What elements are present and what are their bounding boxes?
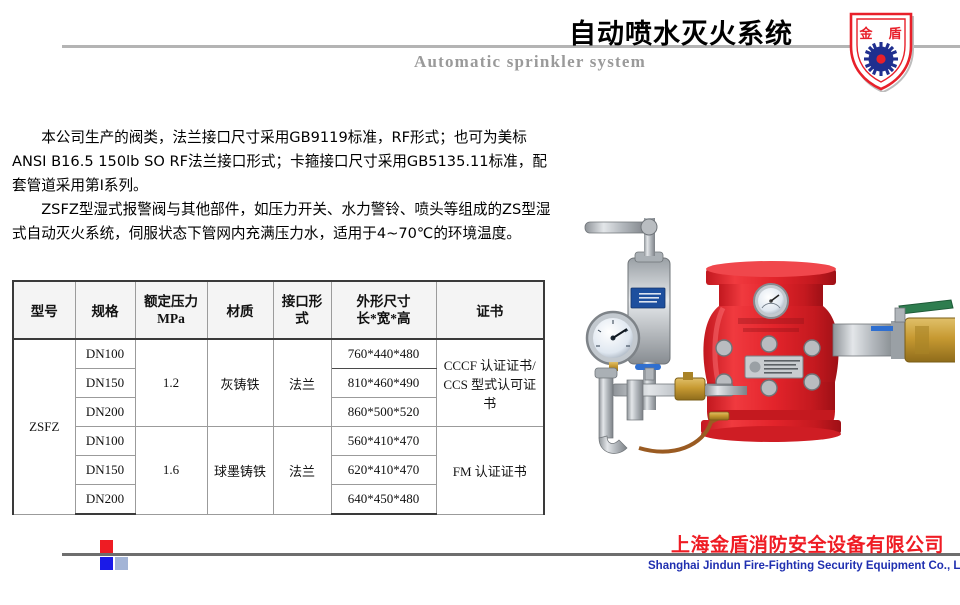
cell-certificate-line2: CCS 型式认可证书 xyxy=(438,374,543,412)
cell-spec: DN200 xyxy=(75,398,135,427)
specification-table: 型号 规格 额定压力 MPa 材质 接口形 式 外形尺寸 长*宽*高 证书 xyxy=(12,280,545,515)
cell-connection: 法兰 xyxy=(273,427,331,515)
valve-nameplate xyxy=(745,356,803,378)
cell-certificate-line1: CCCF 认证证书/ xyxy=(438,355,543,374)
logo-char-jin: 金 xyxy=(858,26,873,42)
col-header-certificate: 证书 xyxy=(436,281,544,339)
footer-accent-square-blue xyxy=(100,557,113,570)
cell-spec: DN200 xyxy=(75,485,135,515)
cell-dimensions: 760*440*480 xyxy=(331,339,436,369)
cell-material: 球墨铸铁 xyxy=(207,427,273,515)
cell-dimensions: 560*410*470 xyxy=(331,427,436,456)
cell-spec: DN100 xyxy=(75,427,135,456)
cell-dimensions: 810*460*490 xyxy=(331,369,436,398)
col-header-dimensions: 外形尺寸 长*宽*高 xyxy=(331,281,436,339)
company-name-english: Shanghai Jindun Fire-Fighting Security E… xyxy=(648,560,960,572)
company-name-chinese: 上海金盾消防安全设备有限公司 xyxy=(655,530,960,557)
body-pressure-gauge xyxy=(754,284,788,318)
col-header-connection: 接口形 式 xyxy=(273,281,331,339)
cell-dimensions: 620*410*470 xyxy=(331,456,436,485)
cell-dimensions: 640*450*480 xyxy=(331,485,436,515)
cell-certificate: FM 认证证书 xyxy=(436,427,544,515)
logo-gear-icon xyxy=(864,42,898,76)
col-header-rated-pressure-unit: MPa xyxy=(137,310,206,327)
col-header-dimensions-formula: 长*宽*高 xyxy=(333,310,435,327)
logo-char-dun: 盾 xyxy=(888,26,901,42)
col-header-material: 材质 xyxy=(207,281,273,339)
outlet-pipe-assembly xyxy=(833,300,955,362)
intro-text-block: 本公司生产的阀类，法兰接口尺寸采用GB9119标准，RF形式；也可为美标ANSI… xyxy=(12,126,557,246)
table-row: DN100 1.6 球墨铸铁 法兰 560*410*470 FM 认证证书 xyxy=(13,427,544,456)
cell-pressure: 1.6 xyxy=(135,427,207,515)
cell-model: ZSFZ xyxy=(13,339,75,514)
cell-certificate: CCCF 认证证书/ CCS 型式认可证书 xyxy=(436,339,544,427)
col-header-spec: 规格 xyxy=(75,281,135,339)
col-header-model: 型号 xyxy=(13,281,75,339)
table-header-row: 型号 规格 额定压力 MPa 材质 接口形 式 外形尺寸 长*宽*高 证书 xyxy=(13,281,544,339)
footer-accent-square-red xyxy=(100,540,113,553)
cell-spec: DN150 xyxy=(75,369,135,398)
footer-accent-square-light-blue xyxy=(115,557,128,570)
cell-spec: DN150 xyxy=(75,456,135,485)
col-header-connection-line1: 接口形 xyxy=(275,293,330,310)
intro-paragraph-2: ZSFZ型湿式报警阀与其他部件，如压力开关、水力警铃、喷头等组成的ZS型湿式自动… xyxy=(12,198,557,246)
col-header-rated-pressure: 额定压力 MPa xyxy=(135,281,207,339)
cell-spec: DN100 xyxy=(75,339,135,369)
col-header-dimensions-line1: 外形尺寸 xyxy=(333,293,435,310)
intro-paragraph-1: 本公司生产的阀类，法兰接口尺寸采用GB9119标准，RF形式；也可为美标ANSI… xyxy=(12,126,557,198)
page-subtitle: Automatic sprinkler system xyxy=(405,52,655,72)
product-photo xyxy=(583,196,955,508)
cell-pressure: 1.2 xyxy=(135,339,207,427)
specification-table-container: 型号 规格 额定压力 MPa 材质 接口形 式 外形尺寸 长*宽*高 证书 xyxy=(12,280,543,515)
page-title: 自动喷水灭火系统 xyxy=(566,12,796,51)
table-row: ZSFZ DN100 1.2 灰铸铁 法兰 760*440*480 CCCF 认… xyxy=(13,339,544,369)
shield-logo-icon: 金 盾 xyxy=(845,10,917,92)
wet-alarm-valve-illustration xyxy=(583,196,955,508)
cell-connection: 法兰 xyxy=(273,339,331,427)
cell-material: 灰铸铁 xyxy=(207,339,273,427)
page-header: 自动喷水灭火系统 Automatic sprinkler system 金 盾 xyxy=(0,0,960,98)
company-logo: 金 盾 xyxy=(845,10,917,92)
col-header-connection-line2: 式 xyxy=(275,310,330,327)
cell-dimensions: 860*500*520 xyxy=(331,398,436,427)
header-divider-line xyxy=(62,45,960,48)
col-header-rated-pressure-line1: 额定压力 xyxy=(137,293,206,310)
